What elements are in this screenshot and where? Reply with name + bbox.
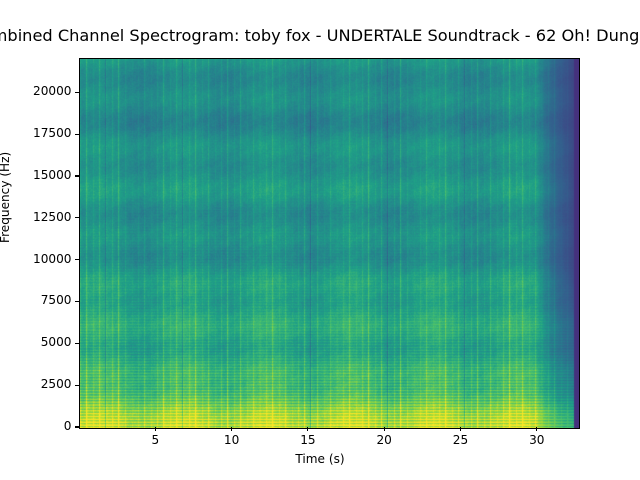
plot-area (79, 58, 580, 429)
y-tick-mark (75, 175, 79, 176)
y-tick-label: 7500 (41, 293, 72, 307)
x-tick-label: 5 (125, 433, 185, 447)
x-tick-mark (155, 427, 156, 431)
x-tick-label: 25 (431, 433, 491, 447)
y-tick-label: 15000 (33, 168, 71, 182)
y-tick-mark (75, 92, 79, 93)
spectrogram-figure: Combined Channel Spectrogram: toby fox -… (0, 0, 640, 480)
x-tick-mark (384, 427, 385, 431)
y-tick-label: 2500 (41, 377, 72, 391)
x-tick-mark (307, 427, 308, 431)
y-tick-label: 12500 (33, 210, 71, 224)
x-axis-label: Time (s) (0, 452, 640, 466)
y-tick-label: 17500 (33, 126, 71, 140)
y-tick-label: 20000 (33, 84, 71, 98)
y-tick-mark (75, 134, 79, 135)
spectrogram-image (80, 59, 579, 428)
y-tick-mark (75, 259, 79, 260)
page-title: Combined Channel Spectrogram: toby fox -… (0, 26, 640, 45)
y-tick-label: 10000 (33, 252, 71, 266)
x-tick-mark (460, 427, 461, 431)
y-tick-label: 5000 (41, 335, 72, 349)
y-tick-label: 0 (64, 419, 72, 433)
y-tick-mark (75, 217, 79, 218)
y-axis-label: Frequency (Hz) (0, 152, 12, 243)
y-tick-mark (75, 426, 79, 427)
x-tick-label: 10 (202, 433, 262, 447)
x-tick-label: 20 (354, 433, 414, 447)
x-tick-mark (231, 427, 232, 431)
y-tick-mark (75, 301, 79, 302)
y-tick-mark (75, 385, 79, 386)
x-tick-mark (536, 427, 537, 431)
y-tick-mark (75, 343, 79, 344)
x-tick-label: 30 (507, 433, 567, 447)
x-tick-label: 15 (278, 433, 338, 447)
